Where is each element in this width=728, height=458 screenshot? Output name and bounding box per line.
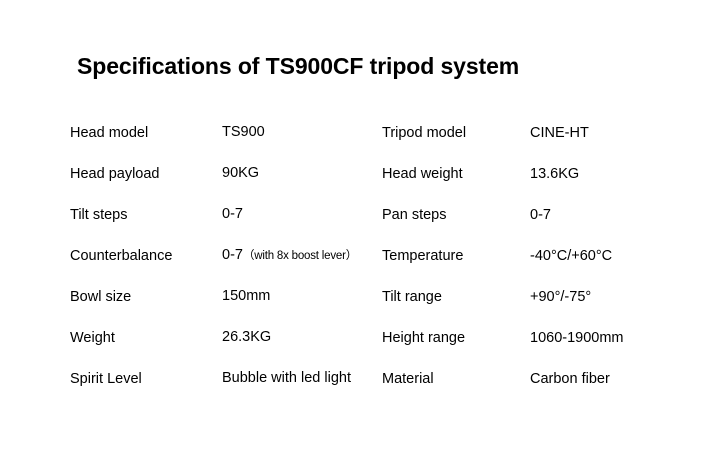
spec-value-spirit-level: Bubble with led light	[222, 358, 382, 399]
spec-value-tilt-range: +90°/-75°	[530, 276, 690, 317]
spec-value-head-weight: 13.6KG	[530, 153, 690, 194]
spec-label-bowl-size: Bowl size	[70, 276, 222, 317]
spec-label-head-weight: Head weight	[382, 153, 530, 194]
spec-label-head-model: Head model	[70, 112, 222, 153]
spec-value-height-range: 1060-1900mm	[530, 317, 690, 358]
spec-value-weight: 26.3KG	[222, 317, 382, 358]
specifications-table-body: Head model TS900 Tripod model CINE-HT He…	[70, 112, 690, 399]
spec-value-text: 0-7	[222, 247, 243, 263]
spec-value-text: TS900	[222, 124, 265, 140]
spec-value-temperature: -40°C/+60°C	[530, 235, 690, 276]
spec-label-pan-steps: Pan steps	[382, 194, 530, 235]
spec-value-note: （with 8x boost lever）	[243, 250, 357, 262]
spec-label-spirit-level: Spirit Level	[70, 358, 222, 399]
spec-label-material: Material	[382, 358, 530, 399]
spec-value-head-payload: 90KG	[222, 153, 382, 194]
table-row: Counterbalance 0-7（with 8x boost lever） …	[70, 235, 690, 276]
table-row: Head model TS900 Tripod model CINE-HT	[70, 112, 690, 153]
spec-label-temperature: Temperature	[382, 235, 530, 276]
spec-label-tilt-range: Tilt range	[382, 276, 530, 317]
spec-label-tripod-model: Tripod model	[382, 112, 530, 153]
spec-value-counterbalance: 0-7（with 8x boost lever）	[222, 235, 382, 276]
spec-value-text: Bubble with led light	[222, 370, 351, 386]
spec-label-weight: Weight	[70, 317, 222, 358]
spec-value-text: 150mm	[222, 288, 270, 304]
table-row: Tilt steps 0-7 Pan steps 0-7	[70, 194, 690, 235]
spec-label-head-payload: Head payload	[70, 153, 222, 194]
spec-value-text: 26.3KG	[222, 329, 271, 345]
spec-label-tilt-steps: Tilt steps	[70, 194, 222, 235]
specifications-table: Head model TS900 Tripod model CINE-HT He…	[70, 112, 690, 399]
spec-value-pan-steps: 0-7	[530, 194, 690, 235]
spec-label-counterbalance: Counterbalance	[70, 235, 222, 276]
spec-value-text: 90KG	[222, 165, 259, 181]
specification-sheet: Specifications of TS900CF tripod system …	[0, 0, 728, 458]
spec-value-tripod-model: CINE-HT	[530, 112, 690, 153]
table-row: Head payload 90KG Head weight 13.6KG	[70, 153, 690, 194]
spec-value-text: 0-7	[222, 206, 243, 222]
table-row: Weight 26.3KG Height range 1060-1900mm	[70, 317, 690, 358]
spec-value-bowl-size: 150mm	[222, 276, 382, 317]
page-title: Specifications of TS900CF tripod system	[77, 52, 519, 80]
table-row: Spirit Level Bubble with led light Mater…	[70, 358, 690, 399]
spec-value-tilt-steps: 0-7	[222, 194, 382, 235]
spec-value-material: Carbon fiber	[530, 358, 690, 399]
spec-label-height-range: Height range	[382, 317, 530, 358]
table-row: Bowl size 150mm Tilt range +90°/-75°	[70, 276, 690, 317]
spec-value-head-model: TS900	[222, 112, 382, 153]
